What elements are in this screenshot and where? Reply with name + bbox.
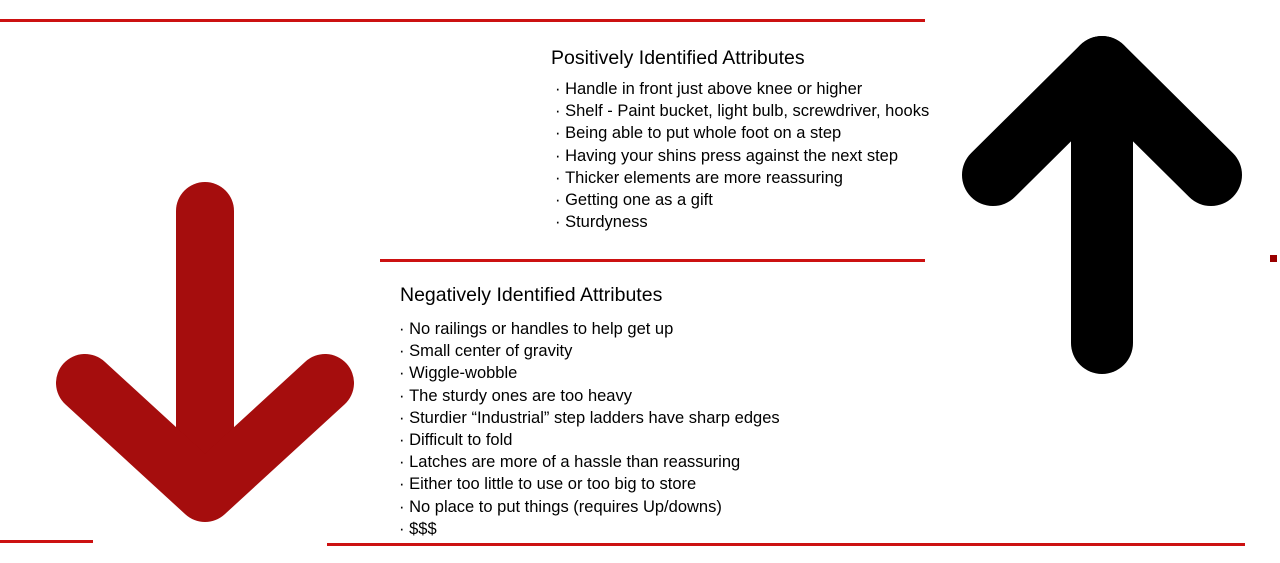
list-item: Thicker elements are more reassuring bbox=[555, 167, 929, 189]
list-item: Latches are more of a hassle than reassu… bbox=[399, 451, 780, 473]
positive-bullet-list: Handle in front just above knee or highe… bbox=[555, 78, 929, 233]
positive-heading: Positively Identified Attributes bbox=[551, 45, 929, 71]
list-item: $$$ bbox=[399, 518, 780, 540]
right-edge-mark bbox=[1270, 255, 1277, 262]
list-item: No railings or handles to help get up bbox=[399, 318, 780, 340]
divider-top bbox=[0, 19, 925, 22]
divider-middle bbox=[380, 259, 925, 262]
list-item: Wiggle-wobble bbox=[399, 362, 780, 384]
list-item: Sturdyness bbox=[555, 211, 929, 233]
divider-bottom-left bbox=[0, 540, 93, 543]
slide-canvas: Positively Identified Attributes Handle … bbox=[0, 0, 1280, 563]
list-item: No place to put things (requires Up/down… bbox=[399, 496, 780, 518]
list-item: Sturdier “Industrial” step ladders have … bbox=[399, 407, 780, 429]
list-item: Having your shins press against the next… bbox=[555, 145, 929, 167]
positive-attributes-block: Positively Identified Attributes Handle … bbox=[551, 45, 929, 233]
list-item: Shelf - Paint bucket, light bulb, screwd… bbox=[555, 100, 929, 122]
negative-heading: Negatively Identified Attributes bbox=[400, 282, 780, 308]
list-item: Small center of gravity bbox=[399, 340, 780, 362]
arrow-down-icon bbox=[55, 178, 355, 523]
list-item: The sturdy ones are too heavy bbox=[399, 385, 780, 407]
list-item: Difficult to fold bbox=[399, 429, 780, 451]
list-item: Getting one as a gift bbox=[555, 189, 929, 211]
list-item: Being able to put whole foot on a step bbox=[555, 122, 929, 144]
list-item: Handle in front just above knee or highe… bbox=[555, 78, 929, 100]
list-item: Either too little to use or too big to s… bbox=[399, 473, 780, 495]
negative-attributes-block: Negatively Identified Attributes No rail… bbox=[400, 282, 780, 540]
arrow-up-icon bbox=[955, 25, 1250, 375]
negative-bullet-list: No railings or handles to help get up Sm… bbox=[399, 318, 780, 540]
divider-bottom-right bbox=[327, 543, 1245, 546]
